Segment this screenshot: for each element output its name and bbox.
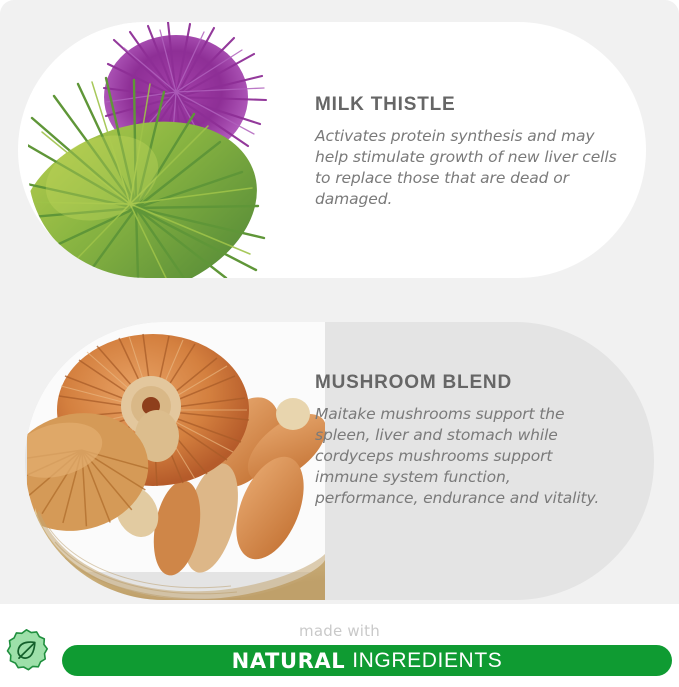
card-milk-thistle-body: Activates protein synthesis and may help… xyxy=(315,126,625,210)
card-mushroom-blend: MUSHROOM BLEND Maitake mushrooms support… xyxy=(25,322,654,600)
card-mushroom-blend-body: Maitake mushrooms support the spleen, li… xyxy=(315,404,615,509)
made-with-label: made with xyxy=(0,622,679,640)
card-milk-thistle-title: MILK THISTLE xyxy=(315,94,625,116)
pill-ingredients-text: INGREDIENTS xyxy=(352,649,502,673)
ingredients-infographic: MILK THISTLE Activates protein synthesis… xyxy=(0,0,679,687)
card-mushroom-blend-text: MUSHROOM BLEND Maitake mushrooms support… xyxy=(315,372,615,509)
leaf-badge-icon xyxy=(3,628,50,675)
card-milk-thistle: MILK THISTLE Activates protein synthesis… xyxy=(18,22,646,278)
natural-ingredients-pill: NATURAL INGREDIENTS xyxy=(62,645,672,676)
natural-ingredients-banner: made with NATURAL INGREDIENTS xyxy=(0,604,679,687)
pill-natural-text: NATURAL xyxy=(232,649,346,673)
milk-thistle-photo xyxy=(18,22,308,278)
card-milk-thistle-text: MILK THISTLE Activates protein synthesis… xyxy=(315,94,625,210)
card-mushroom-blend-title: MUSHROOM BLEND xyxy=(315,372,615,394)
mushroom-blend-photo xyxy=(25,322,325,600)
content-canvas: MILK THISTLE Activates protein synthesis… xyxy=(0,0,679,604)
